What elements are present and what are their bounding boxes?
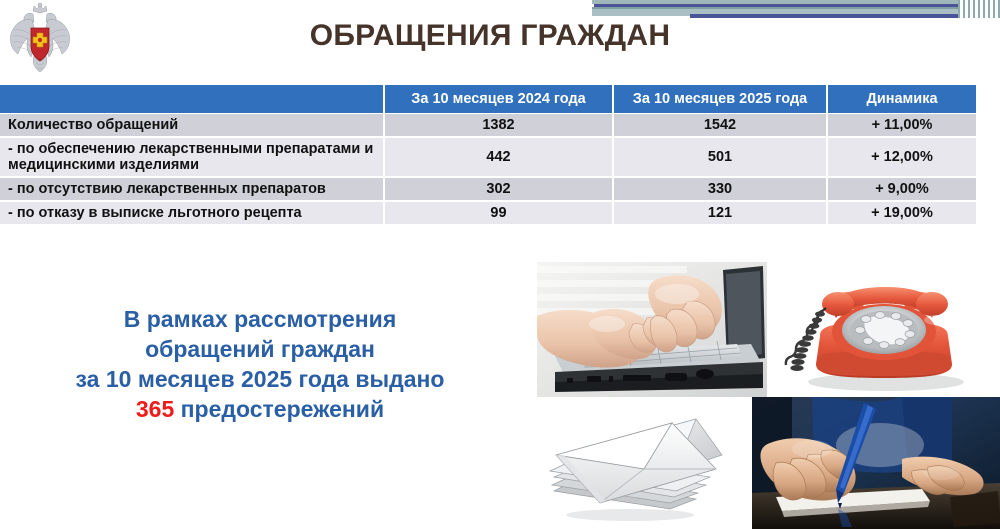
callout-highlight-number: 365: [136, 396, 174, 422]
header-decor-bar-teal-top: [592, 0, 1000, 4]
column-header-metric: [0, 85, 384, 114]
row-value-2024: 99: [384, 201, 613, 225]
row-value-2024: 1382: [384, 114, 613, 138]
slide-canvas: ОБРАЩЕНИЯ ГРАЖДАН За 10 месяцев 2024 год…: [0, 0, 1000, 529]
row-label: - по отказу в выписке льготного рецепта: [0, 201, 384, 225]
table-header-row: За 10 месяцев 2024 года За 10 месяцев 20…: [0, 85, 976, 114]
header-decor-bar-navy-lower: [690, 14, 1000, 18]
table-row: Количество обращений 1382 1542 + 11,00%: [0, 114, 976, 138]
statistics-table-container: За 10 месяцев 2024 года За 10 месяцев 20…: [0, 85, 976, 226]
callout-line-3: за 10 месяцев 2025 года выдано: [10, 365, 510, 395]
callout-line-2: обращений граждан: [10, 335, 510, 365]
callout-line-4-tail: предостережений: [174, 396, 384, 422]
hand-writing-with-pen-photo: [752, 397, 1000, 529]
header-decor-bar-pale: [592, 9, 952, 16]
red-rotary-telephone-photo: [768, 264, 1000, 397]
row-value-2024: 442: [384, 137, 613, 177]
table-row: - по отсутствию лекарственных препаратов…: [0, 177, 976, 201]
stack-of-envelopes-photo: [520, 399, 752, 529]
citizen-appeals-table: За 10 месяцев 2024 года За 10 месяцев 20…: [0, 85, 976, 226]
row-value-2024: 302: [384, 177, 613, 201]
callout-line-1: В рамках рассмотрения: [10, 305, 510, 335]
row-label: - по отсутствию лекарственных препаратов: [0, 177, 384, 201]
row-value-dynamics: + 19,00%: [827, 201, 976, 225]
header-decor-bar-navy-upper: [594, 4, 1000, 7]
row-value-2025: 330: [613, 177, 827, 201]
table-row: - по отказу в выписке льготного рецепта …: [0, 201, 976, 225]
coat-of-arms-icon: [6, 2, 74, 74]
column-header-2024: За 10 месяцев 2024 года: [384, 85, 613, 114]
row-label: Количество обращений: [0, 114, 384, 138]
row-value-dynamics: + 9,00%: [827, 177, 976, 201]
callout-text-block: В рамках рассмотрения обращений граждан …: [10, 305, 510, 425]
row-value-2025: 121: [613, 201, 827, 225]
row-value-dynamics: + 11,00%: [827, 114, 976, 138]
row-label: - по обеспечению лекарственными препарат…: [0, 137, 384, 177]
page-title: ОБРАЩЕНИЯ ГРАЖДАН: [160, 19, 820, 53]
row-value-dynamics: + 12,00%: [827, 137, 976, 177]
column-header-dynamics: Динамика: [827, 85, 976, 114]
hands-typing-on-laptop-photo: [537, 262, 767, 397]
row-value-2025: 501: [613, 137, 827, 177]
header-decor-bar-pale-right: [952, 9, 1000, 16]
row-value-2025: 1542: [613, 114, 827, 138]
callout-line-4: 365 предостережений: [10, 395, 510, 425]
column-header-2025: За 10 месяцев 2025 года: [613, 85, 827, 114]
table-row: - по обеспечению лекарственными препарат…: [0, 137, 976, 177]
header-decor-bar-teal-thin: [592, 7, 1000, 9]
header-decor-hatch: [958, 0, 1000, 18]
